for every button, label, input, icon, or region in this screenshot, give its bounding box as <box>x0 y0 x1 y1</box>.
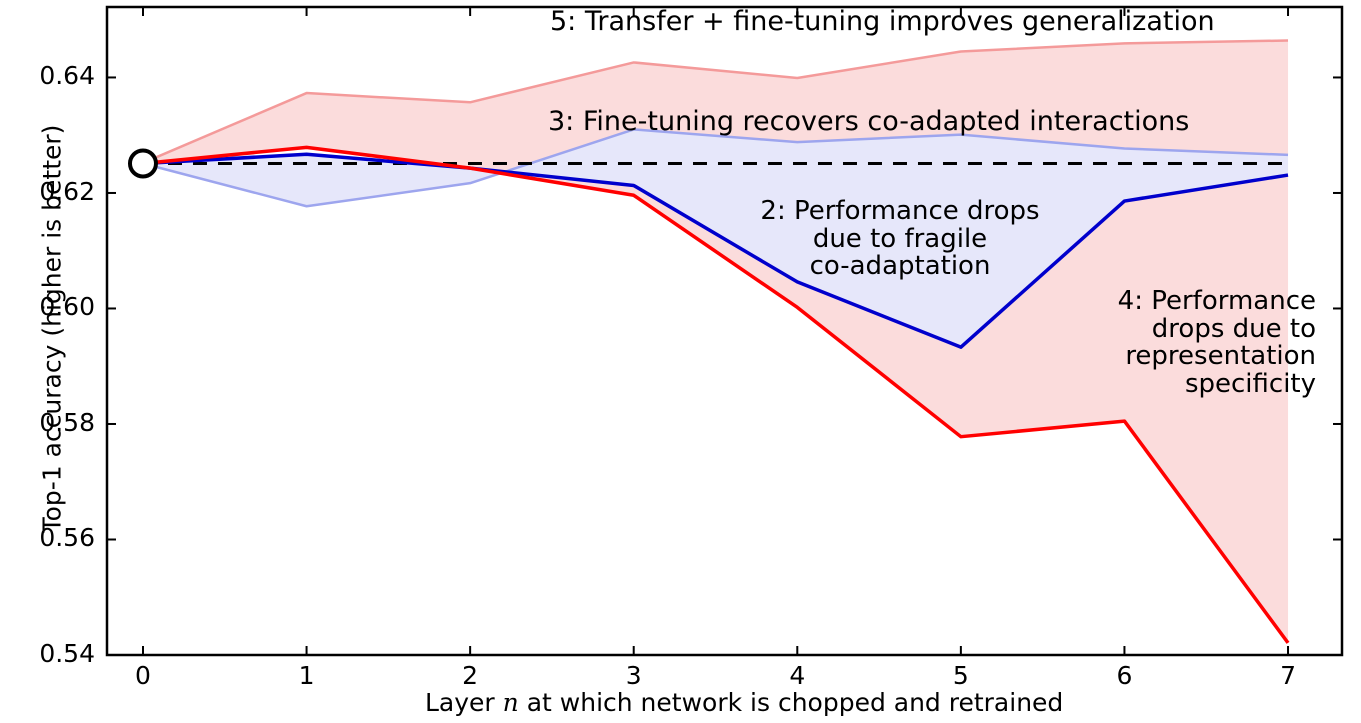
x-tick-label: 2 <box>440 661 500 690</box>
x-tick-label: 5 <box>931 661 991 690</box>
x-tick-label: 3 <box>604 661 664 690</box>
x-axis-label-var: n <box>503 688 519 717</box>
baseline-marker <box>130 151 156 177</box>
annotation-2: 2: Performance drops due to fragile co-a… <box>745 198 1055 281</box>
x-axis-label-pre: Layer <box>425 688 503 717</box>
y-tick-label: 0.54 <box>5 639 95 668</box>
x-tick-label: 1 <box>277 661 337 690</box>
annotation-4: 4: Performance drops due to representati… <box>1016 288 1316 398</box>
x-tick-label: 4 <box>767 661 827 690</box>
annotation-5: 5: Transfer + fine-tuning improves gener… <box>550 8 1215 37</box>
x-tick-label: 6 <box>1094 661 1154 690</box>
x-tick-label: 0 <box>113 661 173 690</box>
x-axis-label-post: at which network is chopped and retraine… <box>519 688 1064 717</box>
chart-figure: 0.540.560.580.600.620.64 01234567 Top-1 … <box>0 0 1361 723</box>
x-tick-label: 7 <box>1258 661 1318 690</box>
y-axis-label: Top-1 accuracy (higher is better) <box>38 69 67 589</box>
x-axis-label: Layer n at which network is chopped and … <box>425 688 1063 717</box>
baseline-marker-circle <box>130 151 156 177</box>
annotation-3: 3: Fine-tuning recovers co-adapted inter… <box>548 108 1189 137</box>
